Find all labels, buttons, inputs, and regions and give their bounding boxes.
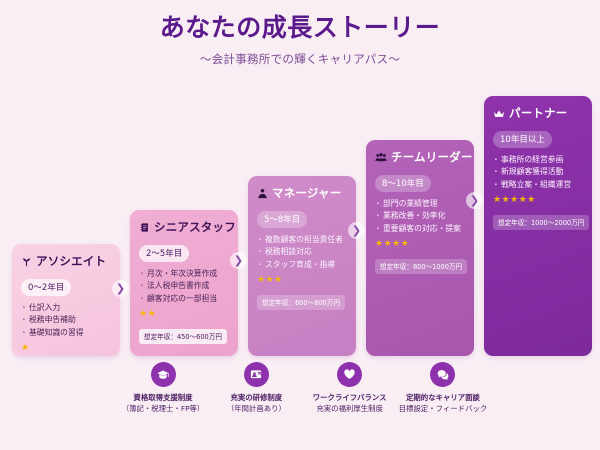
stage-title: アソシエイト bbox=[36, 253, 106, 269]
support-item-work-life-balance[interactable]: ワークライフバランス 充実の福利厚生制度 bbox=[305, 362, 395, 414]
stage-duty-list: 部門の業績管理 業務改善・効率化 重要顧客の対応・提案 bbox=[375, 198, 465, 236]
stage-card-header: チームリーダー bbox=[375, 149, 465, 165]
stage-years-badge: 5〜8年目 bbox=[257, 211, 307, 228]
support-item-career-interview[interactable]: 定期的なキャリア面談 目標設定・フィードバック bbox=[398, 362, 488, 414]
support-item-training[interactable]: 充実の研修制度 （年間計画あり） bbox=[211, 362, 301, 414]
stage-salary-badge: 想定年収：800〜1000万円 bbox=[375, 259, 467, 274]
stage-duty-list: 複数顧客の担当責任者 税務相談対応 スタッフ育成・指導 bbox=[257, 234, 347, 272]
stage-card-header: マネージャー bbox=[257, 185, 347, 201]
team-group-icon bbox=[375, 152, 387, 163]
stage-star-rating: ★ bbox=[21, 344, 111, 353]
support-item-qualification[interactable]: 資格取得支援制度 （簿記・税理士・FP等） bbox=[118, 362, 208, 414]
stage-salary-badge: 想定年収：1000〜2000万円 bbox=[493, 215, 589, 230]
stage-card-manager[interactable]: マネージャー 5〜8年目 複数顧客の担当責任者 税務相談対応 スタッフ育成・指導… bbox=[248, 176, 356, 356]
duty-item: 仕訳入力 bbox=[21, 302, 111, 315]
stage-card-senior-staff[interactable]: シニアスタッフ 2〜5年目 月次・年次決算作成 法人税申告書作成 顧客対応の一部… bbox=[130, 210, 238, 356]
stage-card-partner[interactable]: パートナー 10年目以上 事務所の経営参画 新規顧客獲得活動 戦略立案・組織運営… bbox=[484, 96, 592, 356]
stage-card-header: アソシエイト bbox=[21, 253, 111, 269]
stage-years-badge: 8〜10年目 bbox=[375, 175, 431, 192]
training-board-icon bbox=[244, 362, 269, 387]
stage-star-rating: ★★ bbox=[139, 310, 229, 319]
seedling-icon bbox=[21, 256, 32, 267]
support-detail: 目標設定・フィードバック bbox=[398, 403, 488, 414]
duty-item: 基礎知識の習得 bbox=[21, 327, 111, 340]
support-detail: （簿記・税理士・FP等） bbox=[118, 403, 208, 414]
duty-item: 税務相談対応 bbox=[257, 246, 347, 259]
stage-card-associate[interactable]: アソシエイト 0〜2年目 仕訳入力 税務申告補助 基礎知識の習得 ★ 想定年収：… bbox=[12, 244, 120, 356]
chevron-right-icon: ❯ bbox=[230, 252, 247, 269]
support-title: 定期的なキャリア面談 bbox=[398, 392, 488, 403]
stage-star-rating: ★★★★ bbox=[375, 240, 465, 249]
duty-item: 法人税申告書作成 bbox=[139, 280, 229, 293]
duty-item: 新規顧客獲得活動 bbox=[493, 166, 583, 179]
stage-card-header: パートナー bbox=[493, 105, 583, 121]
stage-salary-badge: 想定年収：600〜800万円 bbox=[257, 295, 345, 310]
stage-salary-badge: 想定年収：450〜600万円 bbox=[139, 329, 227, 344]
duty-item: 事務所の経営参画 bbox=[493, 154, 583, 167]
chevron-right-icon: ❯ bbox=[466, 192, 483, 209]
duty-item: 部門の業績管理 bbox=[375, 198, 465, 211]
duty-item: 重要顧客の対応・提案 bbox=[375, 223, 465, 236]
ledger-icon bbox=[139, 222, 150, 233]
duty-item: 戦略立案・組織運営 bbox=[493, 179, 583, 192]
stage-years-badge: 2〜5年目 bbox=[139, 245, 189, 262]
duty-item: 月次・年次決算作成 bbox=[139, 268, 229, 281]
stage-title: チームリーダー bbox=[391, 149, 473, 165]
support-detail: 充実の福利厚生制度 bbox=[305, 403, 395, 414]
chevron-right-icon: ❯ bbox=[348, 222, 365, 239]
stage-title: シニアスタッフ bbox=[154, 219, 236, 235]
graduation-cap-icon bbox=[151, 362, 176, 387]
support-benefits-row: 資格取得支援制度 （簿記・税理士・FP等） 充実の研修制度 （年間計画あり） ワ… bbox=[118, 362, 488, 414]
stage-duty-list: 事務所の経営参画 新規顧客獲得活動 戦略立案・組織運営 bbox=[493, 154, 583, 192]
stage-duty-list: 仕訳入力 税務申告補助 基礎知識の習得 bbox=[21, 302, 111, 340]
stage-duty-list: 月次・年次決算作成 法人税申告書作成 顧客対応の一部担当 bbox=[139, 268, 229, 306]
stage-star-rating: ★★★ bbox=[257, 276, 347, 285]
manager-person-icon bbox=[257, 188, 268, 199]
stage-card-team-leader[interactable]: チームリーダー 8〜10年目 部門の業績管理 業務改善・効率化 重要顧客の対応・… bbox=[366, 140, 474, 356]
chevron-right-icon: ❯ bbox=[112, 280, 129, 297]
stage-years-badge: 10年目以上 bbox=[493, 131, 552, 148]
chat-bubbles-icon bbox=[430, 362, 455, 387]
stage-card-header: シニアスタッフ bbox=[139, 219, 229, 235]
stage-title: マネージャー bbox=[272, 185, 341, 201]
duty-item: 業務改善・効率化 bbox=[375, 210, 465, 223]
duty-item: 複数顧客の担当責任者 bbox=[257, 234, 347, 247]
heart-icon bbox=[337, 362, 362, 387]
support-title: ワークライフバランス bbox=[305, 392, 395, 403]
stage-years-badge: 0〜2年目 bbox=[21, 279, 71, 296]
stage-star-rating: ★★★★★ bbox=[493, 196, 583, 205]
support-title: 充実の研修制度 bbox=[211, 392, 301, 403]
crown-icon bbox=[493, 108, 505, 119]
duty-item: スタッフ育成・指導 bbox=[257, 259, 347, 272]
stage-title: パートナー bbox=[509, 105, 568, 121]
support-detail: （年間計画あり） bbox=[211, 403, 301, 414]
support-title: 資格取得支援制度 bbox=[118, 392, 208, 403]
duty-item: 顧客対応の一部担当 bbox=[139, 293, 229, 306]
duty-item: 税務申告補助 bbox=[21, 314, 111, 327]
